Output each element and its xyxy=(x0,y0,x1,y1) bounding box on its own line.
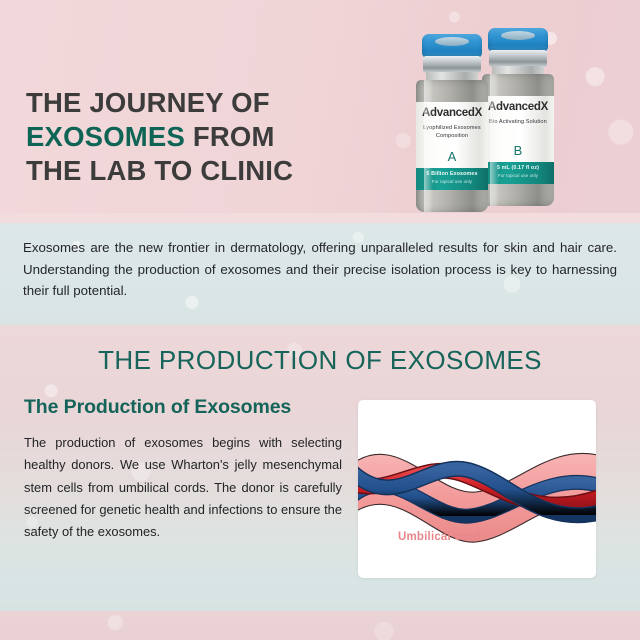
section-heading: THE PRODUCTION OF EXOSOMES xyxy=(0,345,640,376)
vial-a-cap-icon xyxy=(422,34,482,58)
page-title: THE JOURNEY OF EXOSOMES FROM THE LAB TO … xyxy=(26,86,356,187)
product-vials-image: AdvancedX Bio Activating Solution B 5 mL… xyxy=(404,22,594,218)
vial-b-crimp-ring xyxy=(489,50,547,67)
umbilical-cord-illustration xyxy=(358,400,596,578)
bottom-blue-strip xyxy=(0,578,640,611)
vial-a: AdvancedX Lyophilized Exosomes Compositi… xyxy=(410,34,494,216)
vial-a-crimp-ring xyxy=(423,56,481,73)
subsection-body: The production of exosomes begins with s… xyxy=(24,432,342,544)
bottom-pink-strip xyxy=(0,611,640,640)
infographic-page: THE JOURNEY OF EXOSOMES FROM THE LAB TO … xyxy=(0,0,640,640)
vial-a-body: AdvancedX Lyophilized Exosomes Compositi… xyxy=(416,80,488,212)
title-accent-word: EXOSOMES xyxy=(26,121,185,152)
subsection-heading: The Production of Exosomes xyxy=(24,396,354,419)
title-line-1: THE JOURNEY OF xyxy=(26,86,356,120)
intro-paragraph: Exosomes are the new frontier in dermato… xyxy=(23,237,617,302)
vial-a-highlight xyxy=(424,80,433,212)
title-line-3: THE LAB TO CLINIC xyxy=(26,154,356,188)
vial-b-cap-icon xyxy=(488,28,548,52)
cord-caption: Umbilical cord xyxy=(398,531,480,543)
title-line-2-rest: FROM xyxy=(185,121,275,152)
title-line-2: EXOSOMES FROM xyxy=(26,120,356,154)
umbilical-cord-card: Umbilical cord xyxy=(358,400,596,578)
